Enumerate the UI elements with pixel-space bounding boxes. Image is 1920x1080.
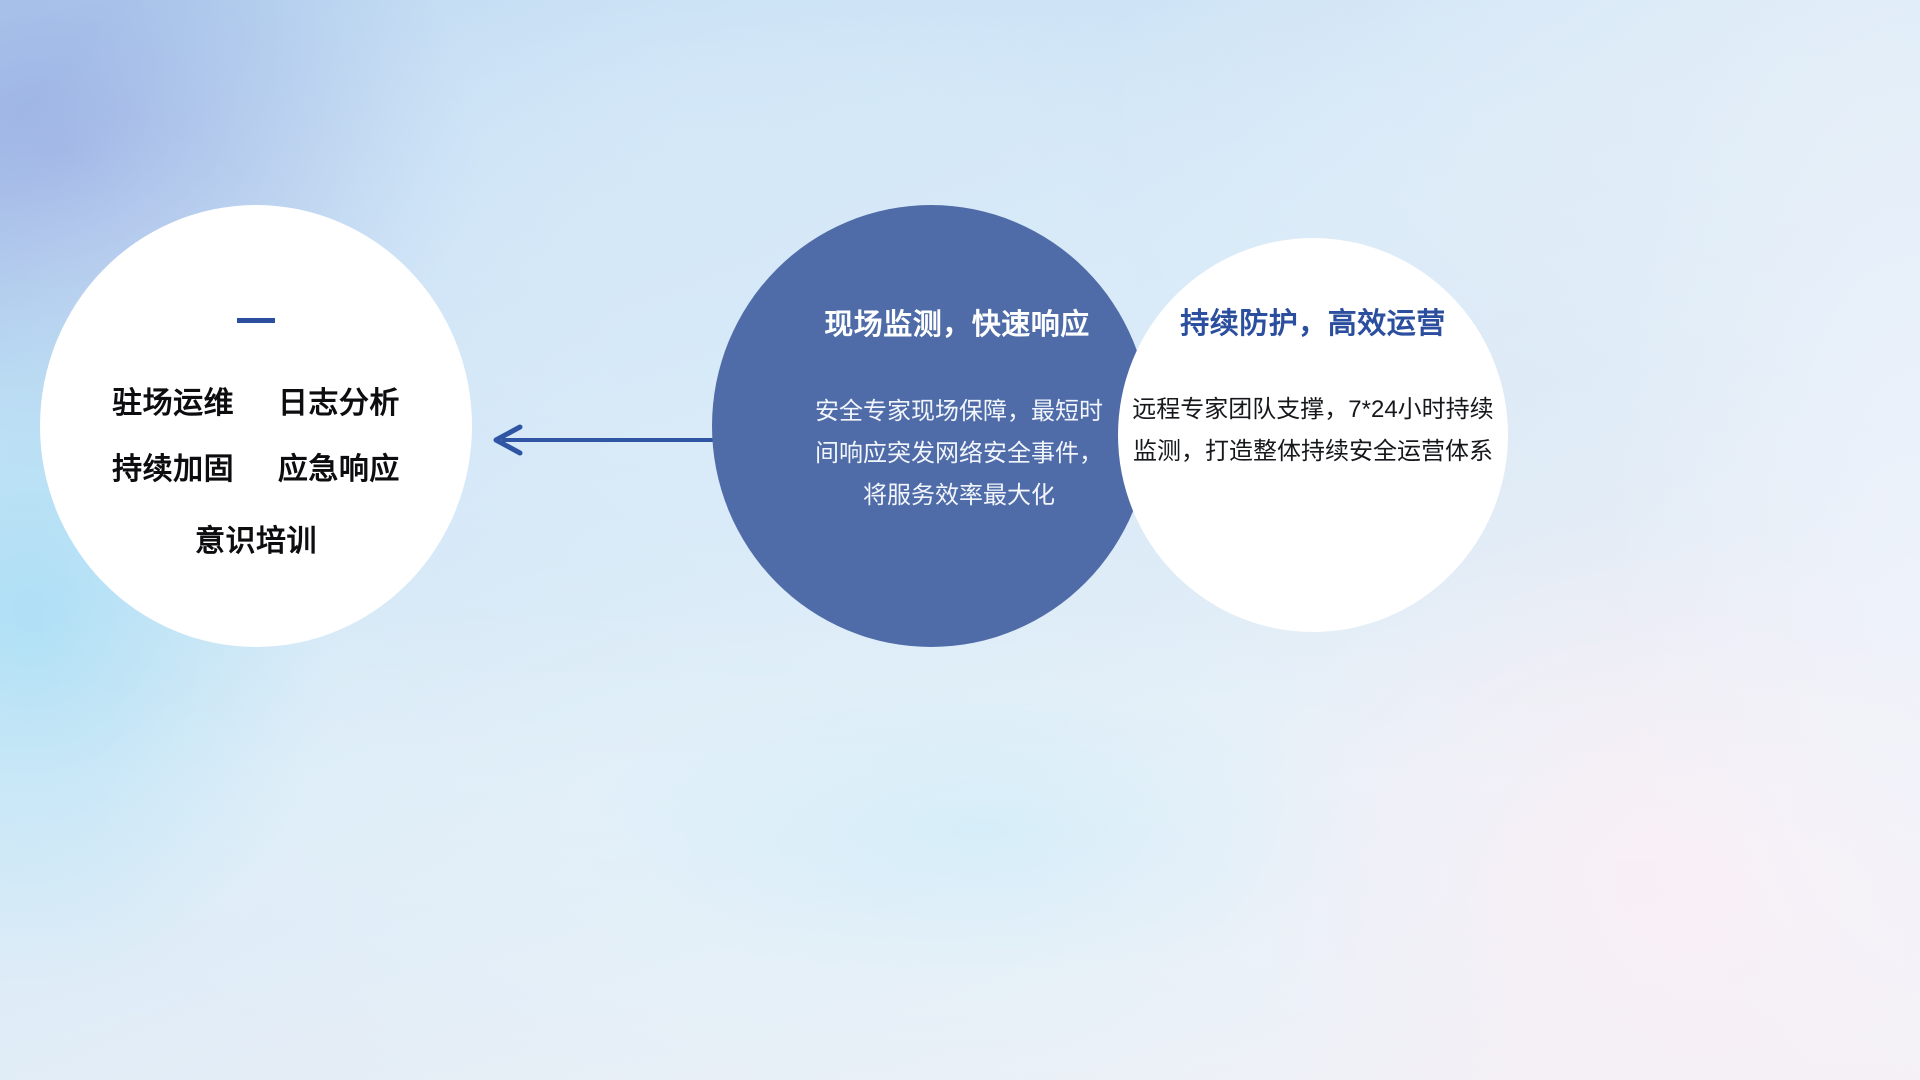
left-circle-label-zhuchang-yunwei: 驻场运维: [112, 387, 234, 420]
left-circle-line-2: 持续加固 应急响应: [112, 444, 400, 488]
left-circle-label-rizhi-fenxi: 日志分析: [278, 387, 400, 420]
left-circle-label-yishi-peixun: 意识培训: [195, 525, 317, 558]
slide-canvas: 驻场运维 日志分析 持续加固 应急响应 意识培训 现场监测，快速响应 安全专家现…: [0, 0, 1920, 1080]
left-circle-line-1: 驻场运维 日志分析: [112, 378, 400, 422]
middle-circle-heading: 现场监测，快速响应: [772, 301, 1090, 343]
right-circle-heading: 持续防护，高效运营: [1180, 300, 1446, 342]
left-circle-content: 驻场运维 日志分析 持续加固 应急响应 意识培训: [40, 205, 472, 647]
left-circle-label-chixu-jiagu: 持续加固: [112, 453, 234, 486]
blue-divider-dash: [237, 318, 275, 323]
left-circle-line-3: 意识培训: [195, 516, 317, 560]
right-circle-content: 持续防护，高效运营 远程专家团队支撑，7*24小时持续监测，打造整体持续安全运营…: [1118, 238, 1508, 632]
arrow-left-icon: [490, 418, 720, 462]
right-circle-body-text: 远程专家团队支撑，7*24小时持续监测，打造整体持续安全运营体系: [1127, 389, 1499, 473]
left-circle-label-yingji-xiangying: 应急响应: [278, 453, 400, 486]
middle-circle-body-text: 安全专家现场保障，最短时间响应突发网络安全事件，将服务效率最大化: [758, 391, 1104, 517]
middle-circle-content: 现场监测，快速响应 安全专家现场保障，最短时间响应突发网络安全事件，将服务效率最…: [712, 205, 1150, 647]
